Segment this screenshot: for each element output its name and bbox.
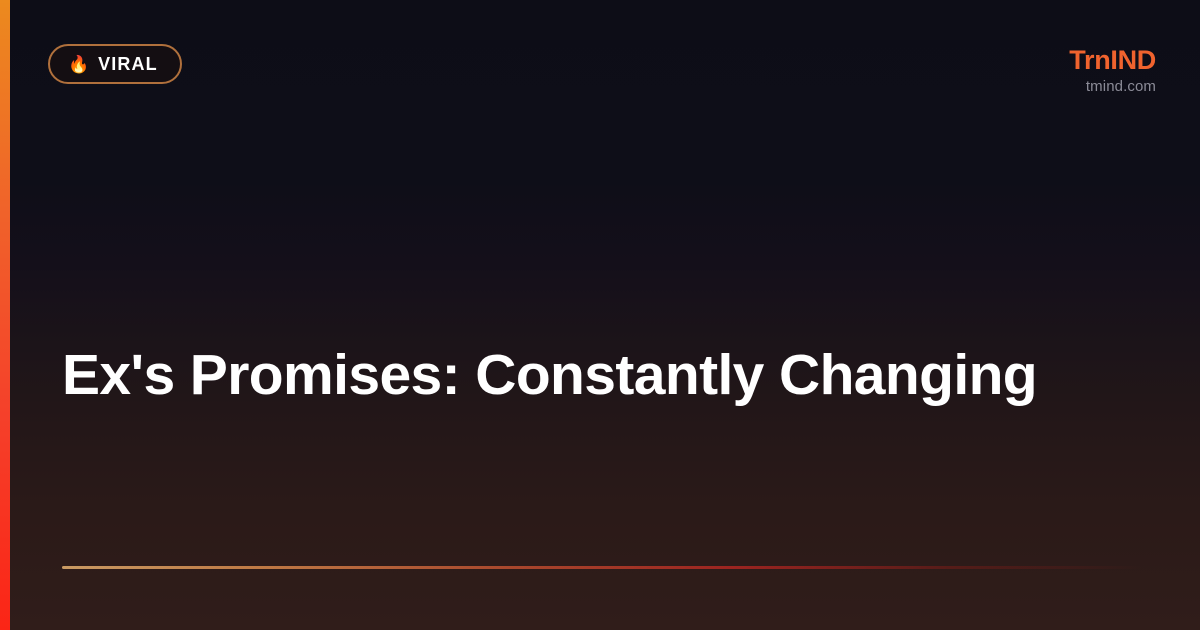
brand-name: TrnIND — [1069, 46, 1156, 74]
fire-icon: 🔥 — [68, 56, 89, 73]
headline-line-2: Ex's Promises: Constantly Changing — [62, 336, 1130, 414]
viral-badge[interactable]: 🔥 VIRAL — [48, 44, 182, 84]
bottom-divider — [62, 566, 1142, 569]
brand-block[interactable]: TrnIND tmind.com — [1069, 44, 1156, 95]
left-accent-bar — [0, 0, 10, 630]
card-header: 🔥 VIRAL TrnIND tmind.com — [48, 44, 1156, 106]
headline-line-1: My OTT Calendar Looking Like My — [62, 258, 1130, 336]
viral-badge-label: VIRAL — [98, 54, 158, 75]
headline: My OTT Calendar Looking Like My Ex's Pro… — [62, 258, 1130, 414]
social-share-card: 🔥 VIRAL TrnIND tmind.com My OTT Calendar… — [0, 0, 1200, 630]
brand-website: tmind.com — [1069, 78, 1156, 95]
